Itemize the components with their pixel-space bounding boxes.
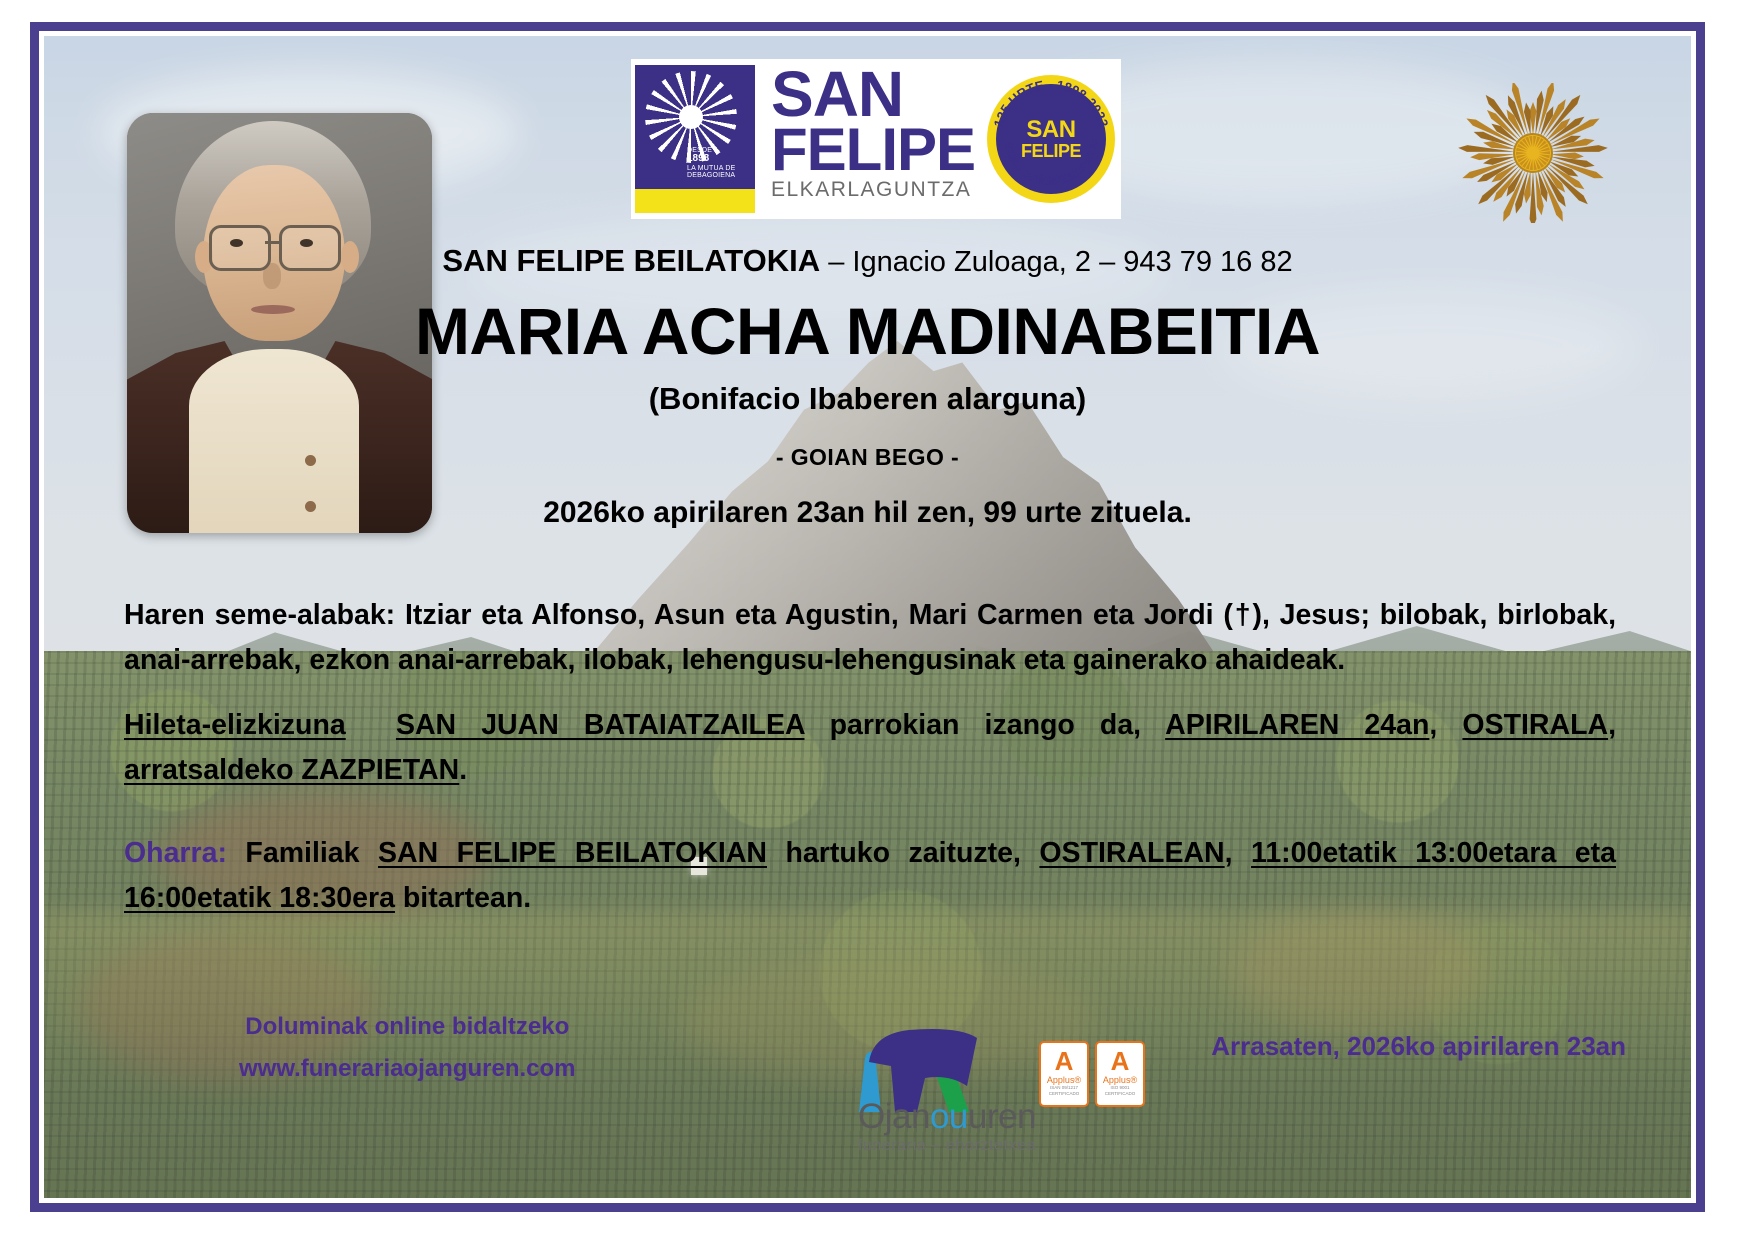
death-statement: 2026ko apirilaren 23an hil zen, 99 urte …	[39, 496, 1696, 530]
deceased-name: MARIA ACHA MADINABEITIA	[39, 293, 1696, 369]
funeral-part2: parrokian izango da,	[804, 709, 1165, 741]
note-venue: SAN FELIPE BEILATOKIAN	[378, 837, 767, 869]
family-paragraph: Haren seme-alabak: Itziar eta Alfonso, A…	[124, 593, 1616, 683]
note-label: Oharra:	[124, 837, 227, 869]
rest-in-peace: - GOIAN BEGO -	[39, 444, 1696, 471]
venue-address: – Ignacio Zuloaga, 2 – 943 79 16 82	[820, 246, 1292, 278]
ojanguren-wordmark: Ojanouuren funeraria – ehorztetxea	[797, 1099, 1097, 1155]
note-middle: hartuko zaituzte,	[767, 837, 1039, 869]
funeral-date: APIRILAREN 24an	[1165, 709, 1429, 741]
funeral-time: arratsaldeko ZAZPIETAN	[124, 754, 459, 786]
applus-line2: CERTIFICADO	[1097, 1092, 1143, 1097]
deceased-relation: (Bonifacio Ibaberen alarguna)	[39, 381, 1696, 417]
funeral-period: .	[459, 754, 467, 786]
note-paragraph: Oharra: Familiak SAN FELIPE BEILATOKIAN …	[124, 831, 1616, 921]
venue-name: SAN FELIPE BEILATOKIA	[442, 243, 820, 278]
applus-grade: A	[1097, 1048, 1143, 1074]
note-weekday: OSTIRALEAN	[1039, 837, 1224, 869]
note-comma: ,	[1225, 837, 1251, 869]
funeral-paragraph: Hileta-elizkizuna SAN JUAN BATAIATZAILEA…	[124, 703, 1616, 793]
note-tail: bitartean.	[395, 882, 531, 914]
place-and-date: Arrasaten, 2026ko apirilaren 23an	[1211, 1031, 1626, 1062]
funeral-part1: Hileta-elizkizuna	[124, 709, 346, 741]
oj-part-blue: ou	[930, 1097, 968, 1136]
applus-line2: CERTIFICADO	[1041, 1092, 1087, 1097]
funeral-notice-card: DESDE 1898 LA MUTUA DE DEBAGOIENA SAN FE…	[30, 22, 1705, 1212]
funeral-parish: SAN JUAN BATAIATZAILEA	[396, 709, 805, 741]
oj-part-end: en	[998, 1097, 1036, 1136]
online-condolences: Doluminak online bidaltzeko www.funerari…	[239, 1006, 576, 1090]
funeral-comma2: ,	[1608, 709, 1616, 741]
funeral-comma1: ,	[1429, 709, 1462, 741]
applus-brand: Applus®	[1041, 1076, 1087, 1085]
ojanguren-tagline: funeraria – ehorztetxea	[797, 1137, 1097, 1155]
applus-brand: Applus®	[1097, 1076, 1143, 1085]
online-website[interactable]: www.funerariaojanguren.com	[239, 1048, 576, 1090]
online-line1: Doluminak online bidaltzeko	[239, 1006, 576, 1048]
venue-line: SAN FELIPE BEILATOKIA – Ignacio Zuloaga,…	[39, 243, 1696, 279]
applus-grade: A	[1041, 1048, 1087, 1074]
note-intro: Familiak	[227, 837, 378, 869]
applus-certificate-2: A Applus® ISO 9001 CERTIFICADO	[1095, 1041, 1145, 1107]
oj-part2: ur	[968, 1097, 998, 1136]
funeral-weekday: OSTIRALA	[1462, 709, 1608, 741]
oj-part1: Ojan	[858, 1097, 930, 1136]
applus-certificate-1: A Applus® ISAN 09/1217 CERTIFICADO	[1039, 1041, 1089, 1107]
